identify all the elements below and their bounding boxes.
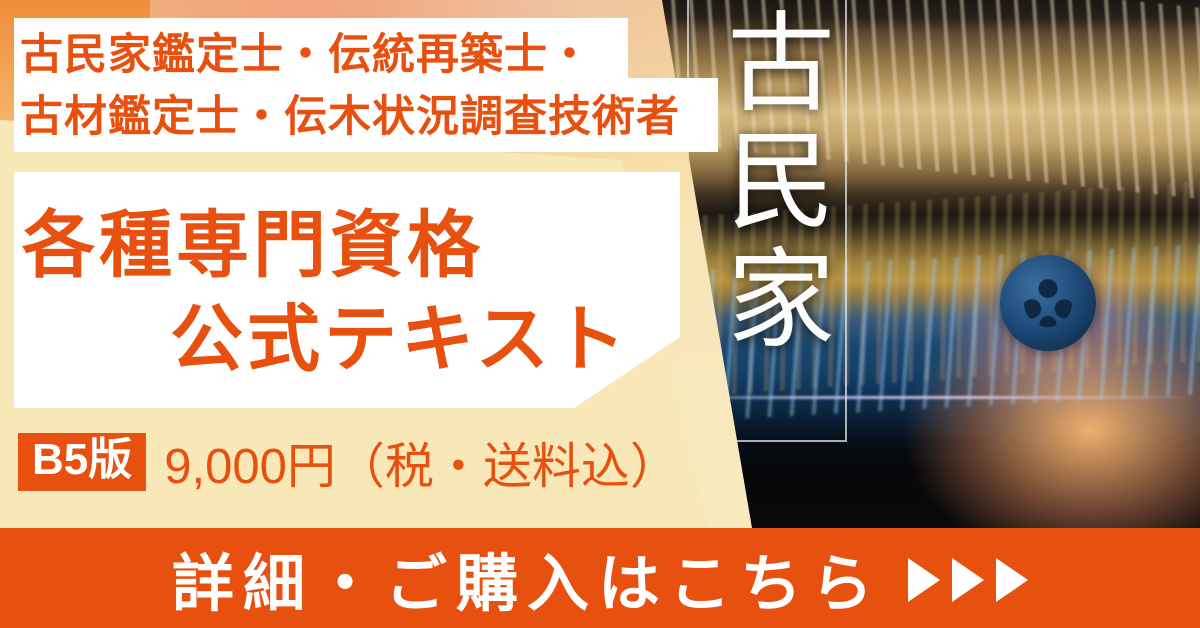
- family-crest-medallion: [1000, 255, 1096, 351]
- book-cover-title: 古民家: [698, 6, 838, 360]
- promo-banner: 古民家 伝統構法 古民家活用のための調査と再生 古民家鑑定士・伝統再築士・ 古材…: [0, 0, 1200, 628]
- cta-button[interactable]: 詳細・ご購入はこちら: [0, 528, 1200, 628]
- price-amount: 9,000円（税・送料込）: [164, 427, 679, 498]
- cta-label: 詳細・ご購入はこちら: [172, 533, 882, 623]
- title-line-1: 各種専門資格: [22, 186, 484, 292]
- price-row: B5版 9,000円（税・送料込）: [18, 428, 679, 496]
- title-line-2: 公式テキスト: [170, 280, 630, 386]
- triangle-right-icon: [908, 558, 940, 602]
- triangle-right-icon: [996, 558, 1028, 602]
- size-badge: B5版: [18, 433, 146, 490]
- headline-line-2: 古材鑑定士・伝木状況調査技術者: [20, 82, 680, 144]
- triangle-right-icon: [952, 558, 984, 602]
- cta-arrow-group: [908, 558, 1028, 602]
- headline-line-1: 古民家鑑定士・伝統再築士・: [20, 20, 592, 82]
